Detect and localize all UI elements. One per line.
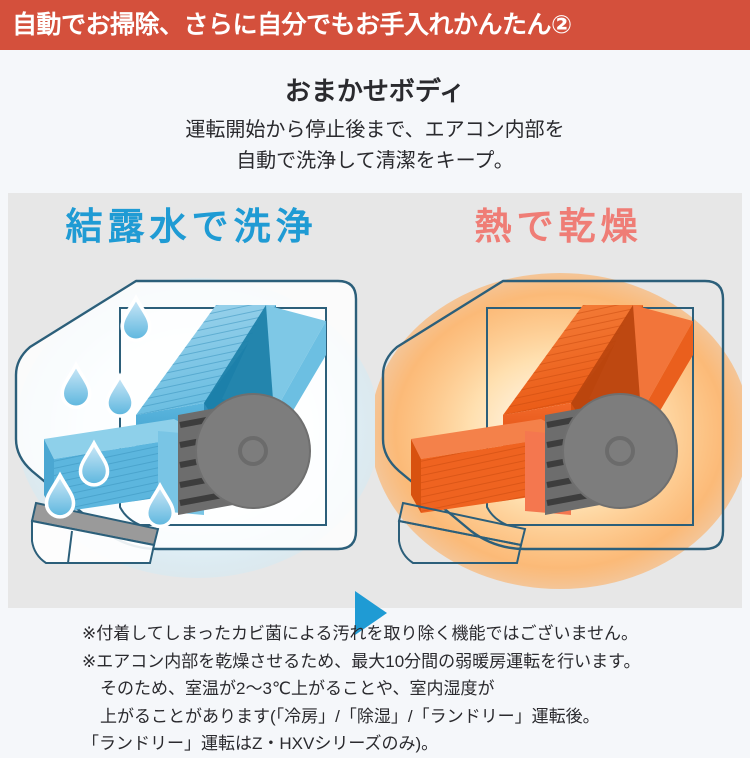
intro-description-line-2: 自動で洗浄して清潔をキープ。 xyxy=(0,146,750,177)
illustration-panel: 結露水で洗浄 xyxy=(8,193,742,608)
fan-drum xyxy=(196,394,310,508)
panel-label-cooling: 結露水で洗浄 xyxy=(8,207,375,248)
footnote-line: 上がることがあります(「冷房」/「除湿」/「ランドリー」運転後。 xyxy=(0,703,750,731)
infographic-page: 自動でお掃除、さらに自分でもお手入れかんたん② おまかせボディ 運転開始から停止… xyxy=(0,0,750,750)
intro-section: おまかせボディ 運転開始から停止後まで、エアコン内部を 自動で洗浄して清潔をキー… xyxy=(0,50,750,177)
footnote-line: そのため、室温が2〜3℃上がることや、室内湿度が xyxy=(0,675,750,703)
header-banner: 自動でお掃除、さらに自分でもお手入れかんたん② xyxy=(0,0,750,50)
banner-title: 自動でお掃除、さらに自分でもお手入れかんたん② xyxy=(0,13,572,38)
panel-label-heating: 熱で乾燥 xyxy=(375,207,742,248)
panel-cooling-wash: 結露水で洗浄 xyxy=(8,193,375,608)
footnote-line: 「ランドリー」運転はZ・HXVシリーズのみ)。 xyxy=(0,730,750,758)
panel-heat-dry: 熱で乾燥 xyxy=(375,193,742,608)
intro-description-line-1: 運転開始から停止後まで、エアコン内部を xyxy=(0,115,750,146)
air-conditioner-cutaway-heating-illustration xyxy=(375,263,742,593)
footnotes: ※付着してしまったカビ菌による汚れを取り除く機能ではございません。 ※エアコン内… xyxy=(0,612,750,758)
page-title: おまかせボディ xyxy=(0,76,750,107)
air-conditioner-cutaway-cooling-illustration xyxy=(8,263,375,593)
footnote-line: ※エアコン内部を乾燥させるため、最大10分間の弱暖房運転を行います。 xyxy=(0,648,750,676)
footnote-line: ※付着してしまったカビ菌による汚れを取り除く機能ではございません。 xyxy=(0,620,750,648)
fan-drum xyxy=(563,394,677,508)
intro-description: 運転開始から停止後まで、エアコン内部を 自動で洗浄して清潔をキープ。 xyxy=(0,115,750,177)
